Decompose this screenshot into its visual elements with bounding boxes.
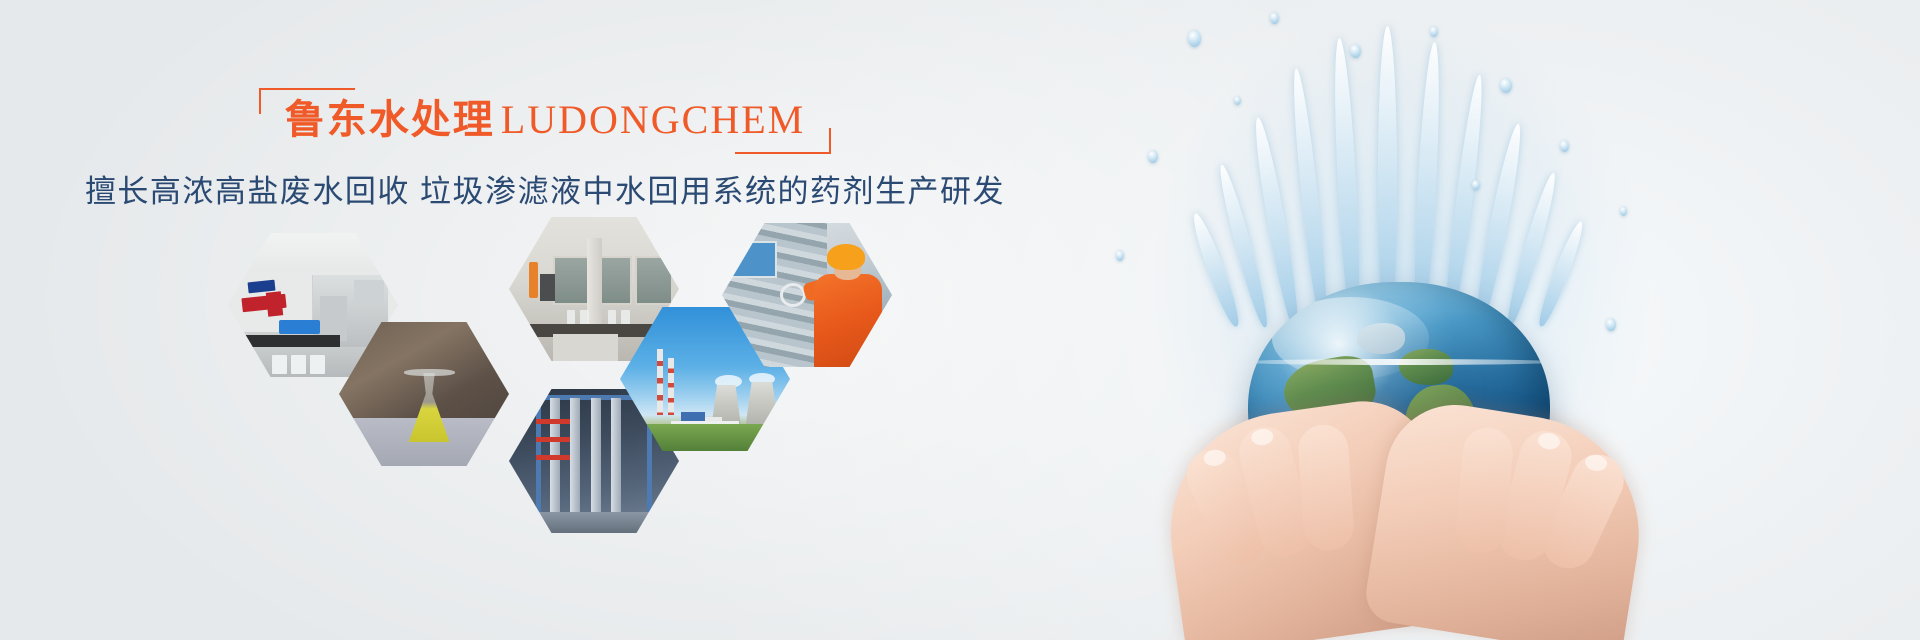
hero-banner: 鲁东水处理LUDONGCHEM 擅长高浓高盐废水回收 垃圾渗滤液中水回用系统的药… — [0, 0, 1920, 640]
cupped-hands — [1170, 380, 1640, 640]
water-droplet-icon — [1270, 12, 1279, 24]
bracket-bottom-right-icon — [735, 152, 831, 154]
water-droplet-icon — [1606, 318, 1616, 331]
water-droplet-icon — [1116, 250, 1124, 261]
water-droplet-icon — [1234, 96, 1241, 105]
water-droplet-icon — [1560, 140, 1569, 152]
landmass-greenland — [1357, 323, 1405, 354]
title-english: LUDONGCHEM — [495, 97, 805, 142]
bracket-top-left-icon — [259, 88, 355, 90]
page-subtitle: 擅长高浓高盐废水回收 垃圾渗滤液中水回用系统的药剂生产研发 — [0, 172, 1090, 212]
water-droplet-icon — [1350, 44, 1361, 58]
water-droplet-icon — [1188, 30, 1201, 47]
right-palm — [1362, 395, 1656, 640]
water-droplet-icon — [1500, 78, 1512, 93]
page-title: 鲁东水处理LUDONGCHEM — [285, 96, 805, 144]
title-frame: 鲁东水处理LUDONGCHEM — [259, 88, 831, 154]
water-droplet-icon — [1430, 26, 1438, 37]
finger — [1297, 423, 1356, 552]
bracket-top-left-vertical-icon — [259, 88, 261, 114]
water-droplet-icon — [1620, 206, 1627, 216]
water-droplet-icon — [1472, 180, 1480, 190]
hexagon-photo-cluster — [228, 214, 958, 524]
bracket-bottom-right-vertical-icon — [829, 128, 831, 154]
water-globe-artwork — [1020, 0, 1920, 640]
title-chinese: 鲁东水处理 — [285, 97, 495, 142]
banner-text-block: 鲁东水处理LUDONGCHEM 擅长高浓高盐废水回收 垃圾渗滤液中水回用系统的药… — [0, 88, 1090, 212]
water-droplet-icon — [1148, 150, 1158, 163]
